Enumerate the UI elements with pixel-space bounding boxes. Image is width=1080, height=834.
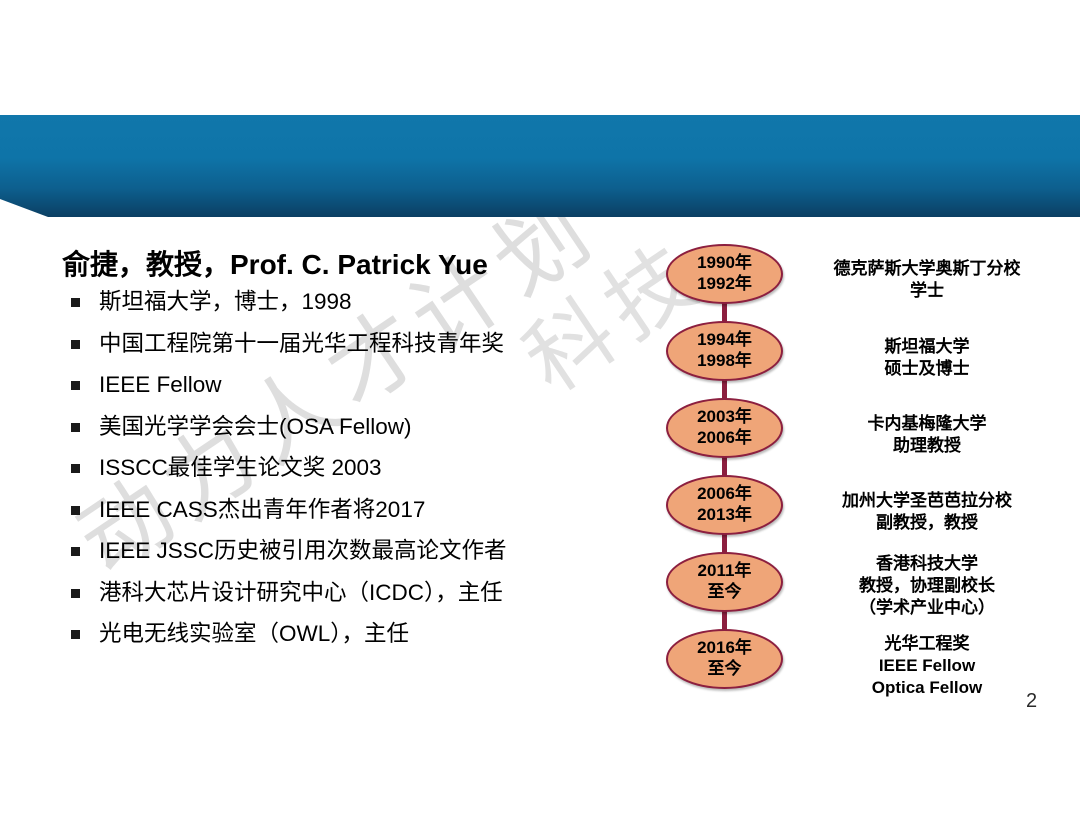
career-description-line: 卡内基梅隆大学 bbox=[798, 413, 1056, 435]
person-name-heading: 俞捷，教授，Prof. C. Patrick Yue bbox=[62, 248, 642, 281]
career-description-line: 光华工程奖 bbox=[798, 633, 1056, 655]
list-item-label: IEEE JSSC历史被引用次数最高论文作者 bbox=[99, 538, 507, 563]
timeline-node: 2006年2013年 bbox=[666, 475, 783, 535]
timeline-node: 2011年至今 bbox=[666, 552, 783, 612]
square-bullet-icon bbox=[71, 340, 80, 349]
timeline-node: 2016年至今 bbox=[666, 629, 783, 689]
timeline-node-line2: 2013年 bbox=[697, 505, 752, 526]
list-item: IEEE CASS杰出青年作者将2017 bbox=[62, 499, 642, 522]
timeline-node: 1994年1998年 bbox=[666, 321, 783, 381]
list-item-label: ISSCC最佳学生论文奖 2003 bbox=[99, 455, 382, 480]
timeline-node-line1: 2006年 bbox=[697, 484, 752, 505]
career-timeline: 1990年1992年1994年1998年2003年2006年2006年2013年… bbox=[664, 244, 788, 704]
timeline-node-line1: 2003年 bbox=[697, 407, 752, 428]
timeline-node-line1: 1990年 bbox=[697, 253, 752, 274]
list-item: IEEE Fellow bbox=[62, 374, 642, 397]
list-item: 港科大芯片设计研究中心（ICDC），主任 bbox=[62, 582, 642, 605]
square-bullet-icon bbox=[71, 381, 80, 390]
biography-panel: 俞捷，教授，Prof. C. Patrick Yue 斯坦福大学，博士，1998… bbox=[62, 248, 642, 665]
list-item-label: 中国工程院第十一届光华工程科技青年奖 bbox=[99, 331, 504, 356]
timeline-node: 1990年1992年 bbox=[666, 244, 783, 304]
career-description-line: 香港科技大学 bbox=[798, 553, 1056, 575]
list-item-label: 斯坦福大学，博士，1998 bbox=[99, 289, 352, 314]
slide-canvas: 动力人才计划 科技 Prof. Patrick Yue Introduction… bbox=[0, 0, 1080, 834]
career-description-line: 斯坦福大学 bbox=[798, 336, 1056, 358]
list-item: ISSCC最佳学生论文奖 2003 bbox=[62, 457, 642, 480]
list-item-label: IEEE Fellow bbox=[99, 372, 222, 397]
timeline-node-line2: 1992年 bbox=[697, 274, 752, 295]
career-description-block: 香港科技大学教授，协理副校长（学术产业中心） bbox=[798, 553, 1056, 619]
square-bullet-icon bbox=[71, 630, 80, 639]
title-banner bbox=[0, 115, 1080, 217]
career-description-block: 加州大学圣芭芭拉分校副教授，教授 bbox=[798, 490, 1056, 534]
timeline-node-line1: 2011年 bbox=[698, 561, 752, 582]
page-title: Prof. Patrick Yue Introduction bbox=[55, 40, 541, 79]
career-description-line: 学士 bbox=[798, 280, 1056, 302]
timeline-node-line1: 2016年 bbox=[697, 638, 752, 659]
career-description-line: 教授，协理副校长 bbox=[798, 575, 1056, 597]
page-number: 2 bbox=[1026, 690, 1037, 713]
timeline-node-line1: 1994年 bbox=[697, 330, 752, 351]
list-item-label: 美国光学学会会士(OSA Fellow) bbox=[99, 414, 412, 439]
career-description-block: 卡内基梅隆大学助理教授 bbox=[798, 413, 1056, 457]
list-item-label: IEEE CASS杰出青年作者将2017 bbox=[99, 497, 425, 522]
career-description-block: 斯坦福大学硕士及博士 bbox=[798, 336, 1056, 380]
square-bullet-icon bbox=[71, 506, 80, 515]
list-item: IEEE JSSC历史被引用次数最高论文作者 bbox=[62, 540, 642, 563]
career-description-line: 副教授，教授 bbox=[798, 512, 1056, 534]
timeline-node-line2: 至今 bbox=[708, 659, 742, 680]
timeline-node-line2: 1998年 bbox=[697, 351, 752, 372]
career-description-line: 硕士及博士 bbox=[798, 358, 1056, 380]
biography-list: 斯坦福大学，博士，1998中国工程院第十一届光华工程科技青年奖IEEE Fell… bbox=[62, 291, 642, 646]
square-bullet-icon bbox=[71, 464, 80, 473]
career-description-block: 德克萨斯大学奥斯丁分校学士 bbox=[798, 258, 1056, 302]
career-description-line: 德克萨斯大学奥斯丁分校 bbox=[798, 258, 1056, 280]
career-description-line: Optica Fellow bbox=[798, 677, 1056, 699]
list-item: 光电无线实验室（OWL），主任 bbox=[62, 623, 642, 646]
career-description-line: 加州大学圣芭芭拉分校 bbox=[798, 490, 1056, 512]
square-bullet-icon bbox=[71, 298, 80, 307]
square-bullet-icon bbox=[71, 423, 80, 432]
list-item: 中国工程院第十一届光华工程科技青年奖 bbox=[62, 333, 642, 356]
square-bullet-icon bbox=[71, 547, 80, 556]
career-description-block: 光华工程奖IEEE FellowOptica Fellow bbox=[798, 633, 1056, 699]
list-item: 美国光学学会会士(OSA Fellow) bbox=[62, 416, 642, 439]
square-bullet-icon bbox=[71, 589, 80, 598]
list-item-label: 港科大芯片设计研究中心（ICDC），主任 bbox=[99, 580, 503, 605]
list-item: 斯坦福大学，博士，1998 bbox=[62, 291, 642, 314]
timeline-node-line2: 2006年 bbox=[697, 428, 752, 449]
career-description-line: （学术产业中心） bbox=[798, 597, 1056, 619]
career-description-line: IEEE Fellow bbox=[798, 655, 1056, 677]
list-item-label: 光电无线实验室（OWL），主任 bbox=[99, 621, 409, 646]
career-description-line: 助理教授 bbox=[798, 435, 1056, 457]
timeline-node: 2003年2006年 bbox=[666, 398, 783, 458]
timeline-node-line2: 至今 bbox=[708, 582, 742, 603]
